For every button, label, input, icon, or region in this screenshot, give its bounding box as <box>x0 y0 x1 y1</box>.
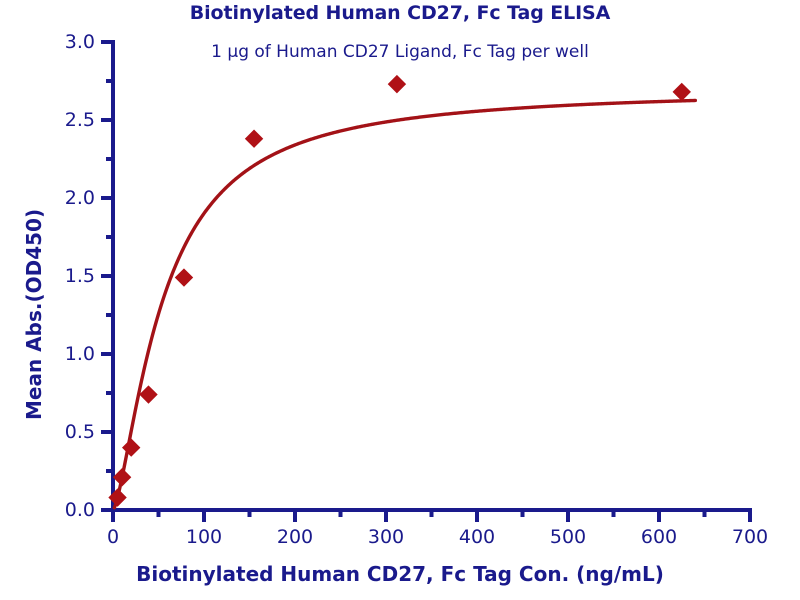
fit-curve <box>114 100 695 507</box>
data-point <box>114 469 131 486</box>
x-tick-label: 0 <box>107 526 119 548</box>
axes <box>101 42 750 522</box>
y-tick-label: 2.0 <box>65 187 95 209</box>
plot-area <box>0 0 800 600</box>
data-point <box>246 130 263 147</box>
x-tick-label: 400 <box>459 526 495 548</box>
x-tick-label: 500 <box>550 526 586 548</box>
data-points <box>109 76 690 506</box>
x-tick-label: 200 <box>277 526 313 548</box>
data-point <box>673 83 690 100</box>
x-tick-label: 600 <box>641 526 677 548</box>
x-tick-label: 100 <box>186 526 222 548</box>
y-tick-label: 1.0 <box>65 343 95 365</box>
elisa-chart: Biotinylated Human CD27, Fc Tag ELISA 1 … <box>0 0 800 600</box>
x-tick-label: 700 <box>732 526 768 548</box>
data-point <box>140 386 157 403</box>
data-point <box>388 76 405 93</box>
y-tick-label: 3.0 <box>65 31 95 53</box>
y-tick-label: 0.0 <box>65 499 95 521</box>
y-tick-label: 1.5 <box>65 265 95 287</box>
y-tick-label: 0.5 <box>65 421 95 443</box>
y-tick-label: 2.5 <box>65 109 95 131</box>
data-point <box>175 269 192 286</box>
x-tick-label: 300 <box>368 526 404 548</box>
